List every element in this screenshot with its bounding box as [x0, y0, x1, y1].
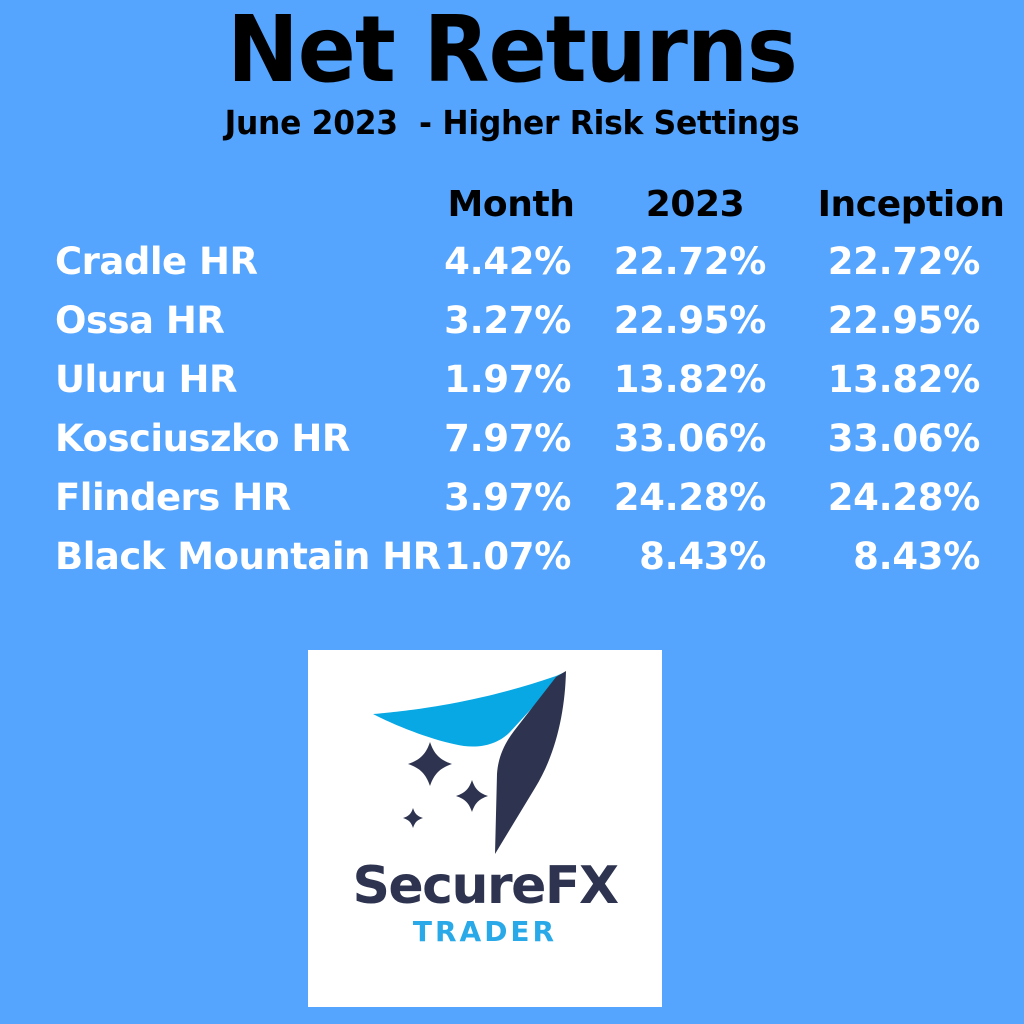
sparkle-medium-icon [456, 780, 488, 812]
row-label: Flinders HR [0, 468, 430, 527]
cell-year: 13.82% [600, 350, 800, 409]
net-returns-poster: Net Returns June 2023 - Higher Risk Sett… [0, 0, 1024, 1024]
cell-inception: 24.28% [800, 468, 1024, 527]
sparkle-large-icon [408, 742, 452, 786]
page-subtitle: June 2023 - Higher Risk Settings [26, 96, 999, 139]
paper-dart-icon [360, 668, 610, 858]
column-header-strategy [0, 178, 430, 232]
table-row: Uluru HR 1.97% 13.82% 13.82% [0, 350, 1024, 409]
row-label: Kosciuszko HR [0, 409, 430, 468]
table-row: Black Mountain HR 1.07% 8.43% 8.43% [0, 527, 1024, 586]
table-header: Month 2023 Inception [0, 178, 1024, 232]
brand-tagline: TRADER [413, 918, 557, 946]
title-block: Net Returns June 2023 - Higher Risk Sett… [0, 0, 1024, 139]
column-header-inception: Inception [800, 178, 1024, 232]
brand-logo-card: SecureFX TRADER [308, 650, 662, 1007]
cell-inception: 8.43% [800, 527, 1024, 586]
cell-month: 3.97% [430, 468, 600, 527]
table-row: Ossa HR 3.27% 22.95% 22.95% [0, 291, 1024, 350]
table-row: Flinders HR 3.97% 24.28% 24.28% [0, 468, 1024, 527]
cell-inception: 22.72% [800, 232, 1024, 291]
cell-month: 4.42% [430, 232, 600, 291]
table-row: Kosciuszko HR 7.97% 33.06% 33.06% [0, 409, 1024, 468]
page-title: Net Returns [36, 0, 988, 96]
row-label: Black Mountain HR [0, 527, 430, 586]
cell-year: 22.72% [600, 232, 800, 291]
row-label: Uluru HR [0, 350, 430, 409]
cell-month: 1.97% [430, 350, 600, 409]
row-label: Ossa HR [0, 291, 430, 350]
brand-wordmark: SecureFX [352, 860, 617, 912]
cell-year: 33.06% [600, 409, 800, 468]
column-header-year: 2023 [600, 178, 800, 232]
cell-inception: 13.82% [800, 350, 1024, 409]
cell-year: 8.43% [600, 527, 800, 586]
returns-table: Month 2023 Inception Cradle HR 4.42% 22.… [0, 178, 1024, 586]
sparkle-small-icon [403, 808, 423, 828]
cell-year: 22.95% [600, 291, 800, 350]
cell-year: 24.28% [600, 468, 800, 527]
row-label: Cradle HR [0, 232, 430, 291]
table-row: Cradle HR 4.42% 22.72% 22.72% [0, 232, 1024, 291]
column-header-month: Month [430, 178, 600, 232]
cell-month: 7.97% [430, 409, 600, 468]
cell-month: 1.07% [430, 527, 600, 586]
cell-inception: 33.06% [800, 409, 1024, 468]
table-body: Cradle HR 4.42% 22.72% 22.72% Ossa HR 3.… [0, 232, 1024, 586]
cell-month: 3.27% [430, 291, 600, 350]
table-header-row: Month 2023 Inception [0, 178, 1024, 232]
cell-inception: 22.95% [800, 291, 1024, 350]
